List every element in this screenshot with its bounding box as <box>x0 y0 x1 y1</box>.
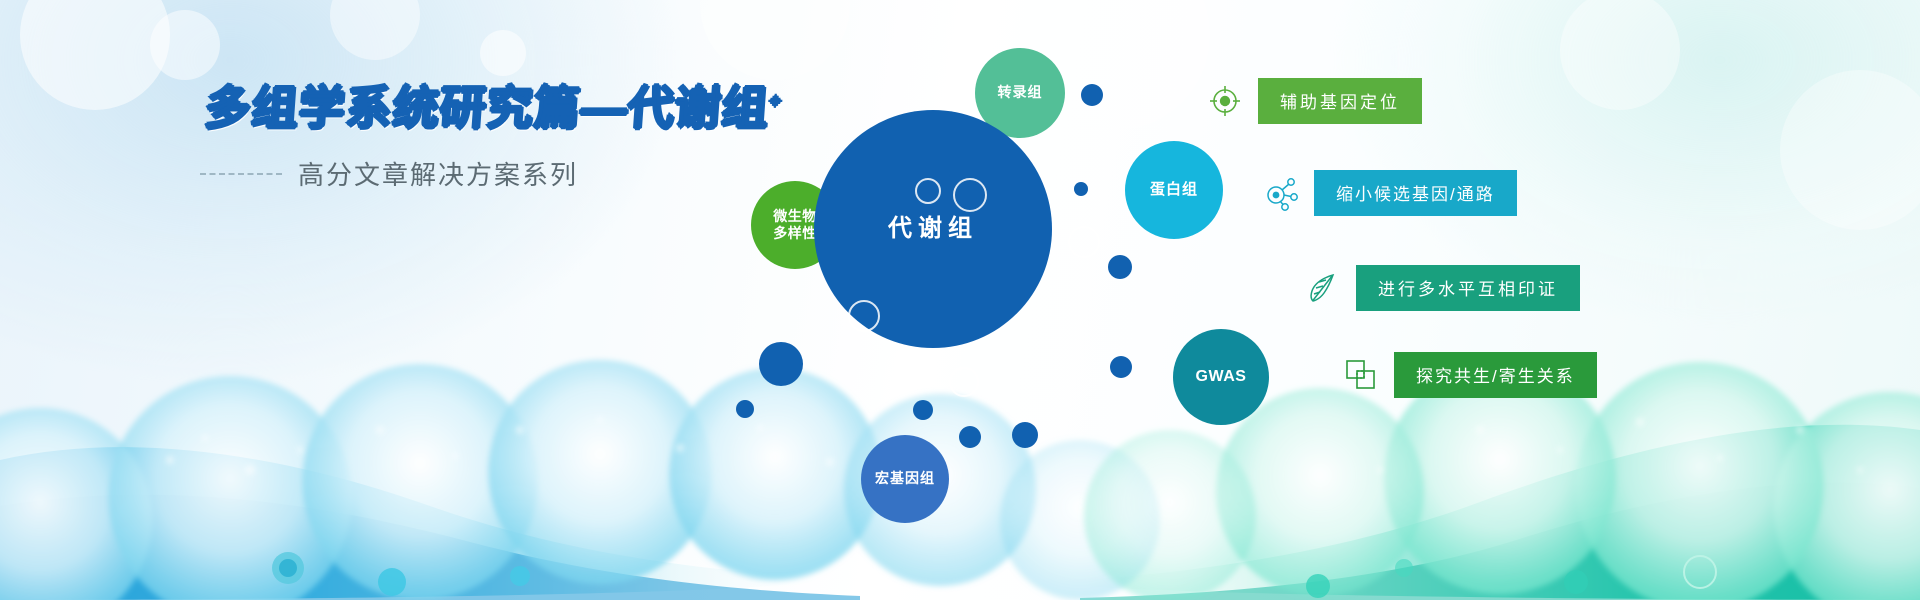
dashed-rule <box>200 173 282 175</box>
page-title-text: 多组学系统研究篇—代谢组 <box>203 82 771 134</box>
page-title: 多组学系统研究篇—代谢组+ <box>203 85 783 131</box>
page-subtitle: 高分文章解决方案系列 <box>298 155 578 192</box>
feature-item-multilevel-validation[interactable]: 进行多水平互相印证 <box>1300 265 1580 311</box>
feature-label-gene-mapping: 辅助基因定位 <box>1258 78 1422 124</box>
feature-label-symbiosis: 探究共生/寄生关系 <box>1394 352 1597 398</box>
feature-label-narrow-candidates: 缩小候选基因/通路 <box>1314 170 1517 216</box>
feature-item-symbiosis[interactable]: 探究共生/寄生关系 <box>1338 352 1597 398</box>
omics-banner: 多组学系统研究篇—代谢组+ 高分文章解决方案系列 转录组 蛋白组 GWAS 微 <box>0 0 1920 600</box>
subtitle-row: 高分文章解决方案系列 <box>200 155 782 192</box>
page-title-superscript: + <box>769 91 783 113</box>
banner-text-block: 多组学系统研究篇—代谢组+ 高分文章解决方案系列 <box>205 85 782 192</box>
feature-item-gene-mapping[interactable]: 辅助基因定位 <box>1202 78 1422 124</box>
overlapping-squares-icon <box>1338 352 1384 398</box>
molecule-network-icon <box>1258 170 1304 216</box>
feature-label-multilevel-validation: 进行多水平互相印证 <box>1356 265 1580 311</box>
feature-item-narrow-candidates[interactable]: 缩小候选基因/通路 <box>1258 170 1517 216</box>
leaf-icon <box>1300 265 1346 311</box>
crosshair-target-icon <box>1202 78 1248 124</box>
